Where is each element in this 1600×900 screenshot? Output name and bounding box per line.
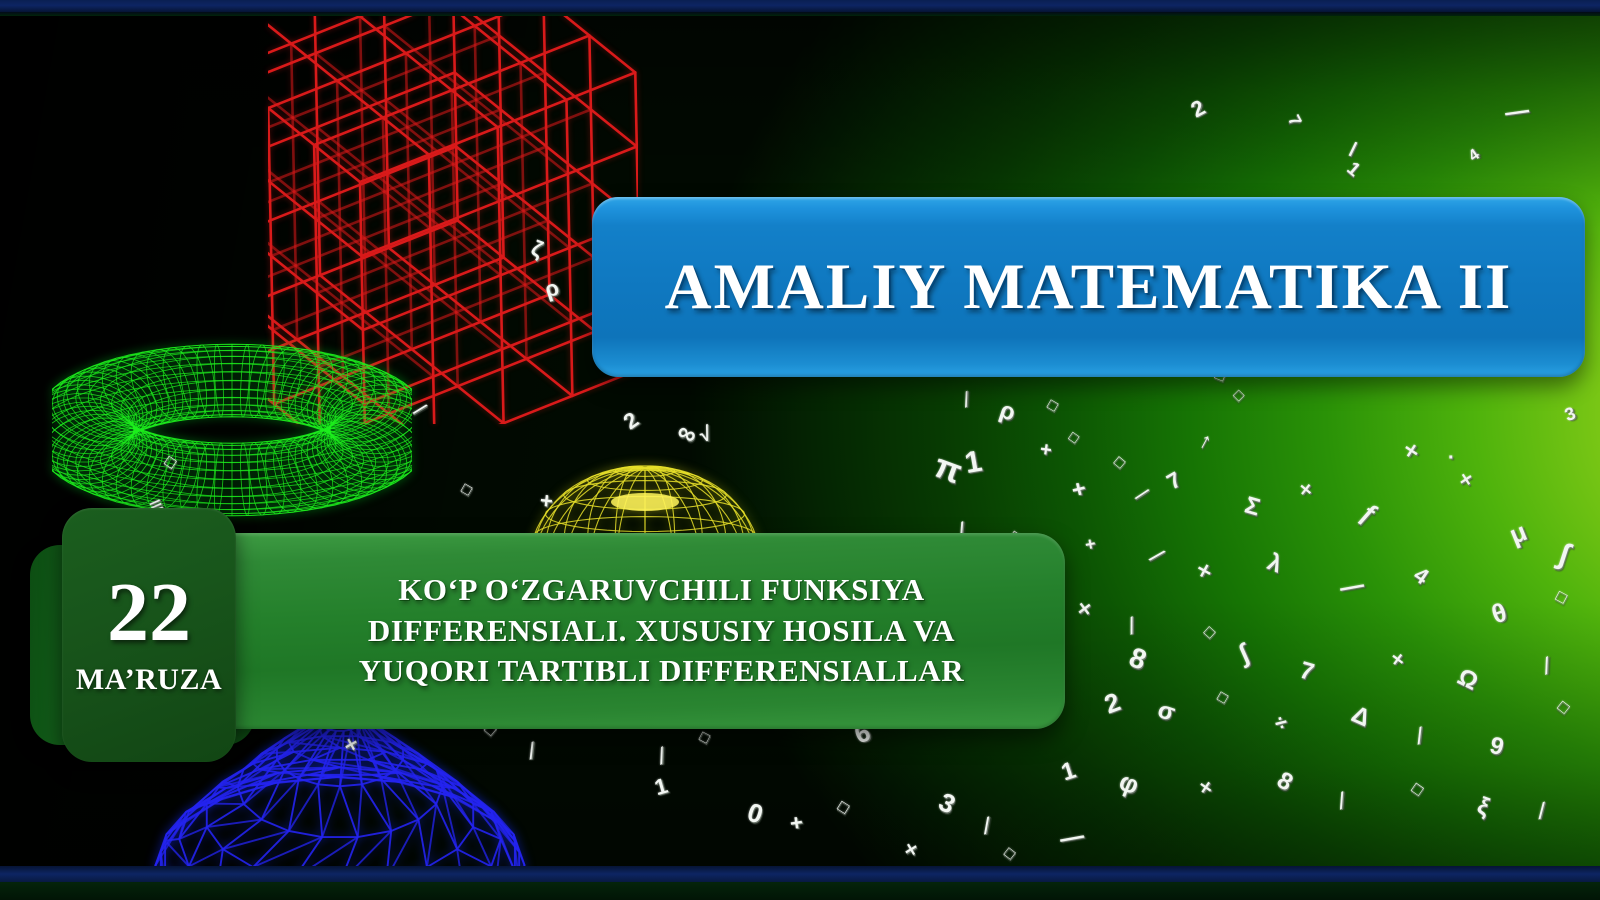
wireframe-torus-graphic: [52, 325, 412, 535]
top-border-band: [0, 0, 1600, 12]
lecture-number: 22: [107, 573, 191, 653]
subtitle-plaque: KOʻP OʻZGARUVCHILI FUNKSIYA DIFFERENSIAL…: [180, 533, 1065, 729]
subtitle-line-2: DIFFERENSIALI. XUSUSIY HOSILA VA: [368, 611, 955, 652]
background-top-shade: [0, 0, 1600, 230]
top-border-accent-line: [0, 12, 1600, 16]
subtitle-line-3: YUQORI TARTIBLI DIFFERENSIALLAR: [359, 651, 964, 692]
page-title: AMALIY MATEMATIKA II: [665, 250, 1513, 325]
subtitle-line-1: KOʻP OʻZGARUVCHILI FUNKSIYA: [398, 570, 925, 611]
title-plaque: AMALIY MATEMATIKA II: [592, 197, 1585, 377]
lecture-title-slide: 27/—14□÷3ρ□⁄□↑×·2∞√π1+□+□⁄7Σ×ƒ×μ∫⁄□+⁄×λ—…: [0, 0, 1600, 900]
bottom-border-fill: [0, 882, 1600, 900]
lecture-badge: 22 MA’RUZA: [62, 508, 236, 762]
lecture-label: MA’RUZA: [76, 663, 222, 697]
bottom-border-band: [0, 866, 1600, 882]
